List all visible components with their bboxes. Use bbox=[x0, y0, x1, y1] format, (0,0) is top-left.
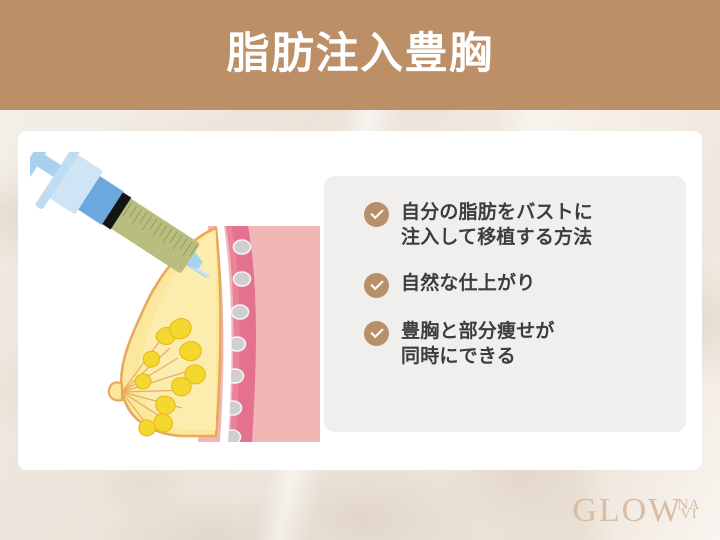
feature-bullet-list: 自分の脂肪をバストに 注入して移植する方法 自然な仕上がり 豊胸と部分痩せが 同… bbox=[324, 200, 686, 369]
header-band: 脂肪注入豊胸 bbox=[0, 0, 720, 110]
brand-logo: GLOW NA VI bbox=[572, 496, 700, 525]
slide-root: 脂肪注入豊胸 bbox=[0, 0, 720, 540]
page-title: 脂肪注入豊胸 bbox=[227, 33, 494, 76]
list-item: 自分の脂肪をバストに 注入して移植する方法 bbox=[324, 200, 686, 250]
bullet-text: 自分の脂肪をバストに 注入して移植する方法 bbox=[401, 200, 593, 250]
bullet-text: 豊胸と部分痩せが 同時にできる bbox=[401, 319, 555, 369]
check-circle-icon bbox=[364, 202, 389, 227]
logo-wordmark: GLOW bbox=[572, 496, 682, 525]
nipple-shape bbox=[109, 382, 122, 400]
check-circle-icon bbox=[364, 273, 389, 298]
list-item: 豊胸と部分痩せが 同時にできる bbox=[324, 319, 686, 369]
logo-navi-mark: NA VI bbox=[677, 500, 700, 521]
check-circle-icon bbox=[364, 321, 389, 346]
list-item: 自然な仕上がり bbox=[324, 271, 686, 298]
illustration-svg bbox=[30, 152, 320, 442]
fat-injection-illustration bbox=[30, 152, 320, 442]
logo-mark-bottom: VI bbox=[680, 509, 697, 521]
bullet-text: 自然な仕上がり bbox=[401, 271, 535, 296]
feature-bullet-panel: 自分の脂肪をバストに 注入して移植する方法 自然な仕上がり 豊胸と部分痩せが 同… bbox=[324, 176, 686, 432]
